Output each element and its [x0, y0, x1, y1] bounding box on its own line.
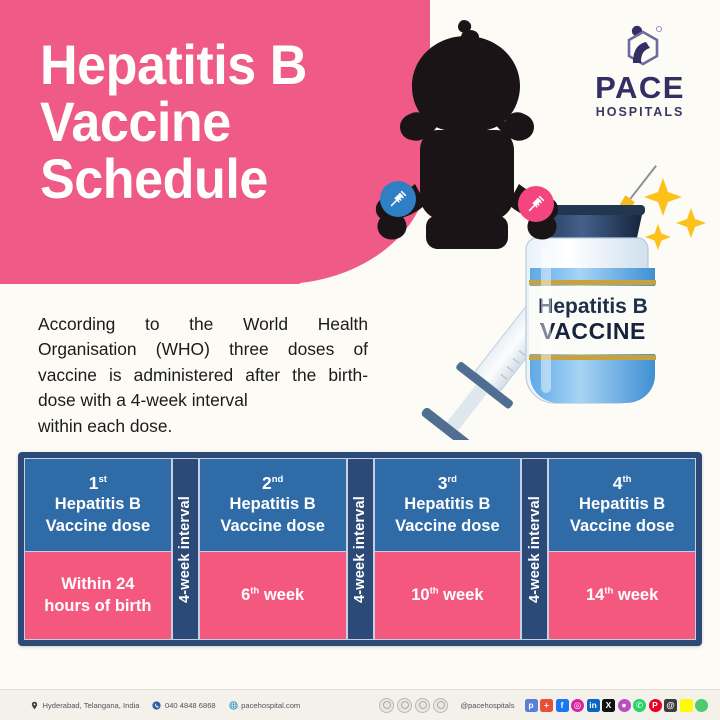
- dose-ordinal-1: 1st: [89, 473, 107, 493]
- dose-timing-row-2: 6th week: [241, 585, 304, 607]
- dose-ordinal-suffix-2: nd: [272, 475, 284, 486]
- dose-header-line1-4: Hepatitis B: [579, 494, 665, 515]
- logo-subtitle: HOSPITALS: [576, 103, 704, 122]
- dose-column-3[interactable]: 3rd Hepatitis B Vaccine dose 10th week: [374, 458, 522, 640]
- dose-ordinal-3: 3rd: [438, 473, 457, 493]
- svg-text:VACCINE: VACCINE: [540, 318, 646, 344]
- baby-silhouette-icon: [366, 18, 566, 273]
- x-twitter-icon[interactable]: X: [602, 699, 615, 712]
- dose-header-line1-1: Hepatitis B: [55, 494, 141, 515]
- title-line-1: Hepatitis B: [40, 36, 393, 93]
- dose-ordinal-number-2: 2: [262, 473, 272, 493]
- dose-ordinal-number-1: 1: [89, 473, 99, 493]
- dose-ordinal-2: 2nd: [262, 473, 283, 493]
- linkedin-icon-glyph: in: [587, 699, 600, 712]
- title-line-2: Vaccine: [40, 93, 393, 150]
- title-line-3: Schedule: [40, 150, 393, 207]
- globe-icon: [229, 701, 238, 710]
- dose-header-1: 1st Hepatitis B Vaccine dose: [25, 459, 171, 552]
- dose-timing-2: 6th week: [200, 552, 346, 639]
- snapchat-icon[interactable]: [680, 699, 693, 712]
- facebook-icon[interactable]: f: [556, 699, 569, 712]
- whatsapp-icon[interactable]: ✆: [633, 699, 646, 712]
- whatsapp-icon-glyph: ✆: [633, 699, 646, 712]
- poster-canvas: Hepatitis B Vaccine Schedule: [0, 0, 720, 720]
- sparkle-icon: [644, 178, 706, 250]
- interval-label-3: 4-week interval: [527, 496, 543, 603]
- interval-separator-1: 4-week interval: [172, 458, 199, 640]
- dose-column-4[interactable]: 4th Hepatitis B Vaccine dose 14th week: [548, 458, 696, 640]
- dose-timing-1: Within 24 hours of birth: [25, 552, 171, 639]
- dose-timing-number-3: 10: [411, 586, 429, 604]
- dose-header-line2-4: Vaccine dose: [570, 516, 675, 537]
- wechat-icon[interactable]: [695, 699, 708, 712]
- accreditation-badge-4-icon: [433, 698, 448, 713]
- logo-name: PACE: [576, 72, 704, 103]
- accreditation-badge-3-icon: [415, 698, 430, 713]
- intro-text-last: within each dose.: [38, 414, 368, 439]
- dose-ordinal-suffix-3: rd: [447, 475, 457, 486]
- dose-timing-row-4: 14th week: [586, 585, 658, 607]
- accreditation-badge-1-icon: [379, 698, 394, 713]
- dose-header-3: 3rd Hepatitis B Vaccine dose: [375, 459, 521, 552]
- footer-bar: Hyderabad, Telangana, India 040 4848 686…: [0, 689, 720, 720]
- instagram-icon[interactable]: ◎: [571, 699, 584, 712]
- dose-column-1[interactable]: 1st Hepatitis B Vaccine dose Within 24 h…: [24, 458, 172, 640]
- accreditation-badges: [379, 698, 448, 713]
- accreditation-badge-2-icon: [397, 698, 412, 713]
- footer-social-group: @pacehospitals p+f◎inX●✆P@: [379, 698, 720, 713]
- dose-header-line1-2: Hepatitis B: [230, 494, 316, 515]
- dose-timing-3: 10th week: [375, 552, 521, 639]
- footer-website-text: pacehospital.com: [241, 701, 300, 710]
- footer-social-handle: @pacehospitals: [460, 701, 514, 710]
- footer-website[interactable]: pacehospital.com: [229, 701, 301, 710]
- dose-timing-unit-2: week: [264, 586, 304, 604]
- interval-label-2: 4-week interval: [352, 496, 368, 603]
- dose-timing-row-3: 10th week: [411, 585, 483, 607]
- pace-hexagon-person-icon: [610, 24, 670, 70]
- dose-header-line2-1: Vaccine dose: [46, 516, 151, 537]
- linkedin-icon[interactable]: in: [587, 699, 600, 712]
- messenger-icon[interactable]: ●: [618, 699, 631, 712]
- dose-header-4: 4th Hepatitis B Vaccine dose: [549, 459, 695, 552]
- messenger-icon-glyph: ●: [618, 699, 631, 712]
- facebook-icon-glyph: f: [556, 699, 569, 712]
- interval-label-1: 4-week interval: [177, 496, 193, 603]
- dose-timing-4: 14th week: [549, 552, 695, 639]
- interval-separator-3: 4-week interval: [521, 458, 548, 640]
- phone-icon: [152, 701, 161, 710]
- footer-phone-text: 040 4848 6868: [165, 701, 216, 710]
- table-row-group: 1st Hepatitis B Vaccine dose Within 24 h…: [24, 458, 696, 640]
- dose-header-line2-3: Vaccine dose: [395, 516, 500, 537]
- pace-hospitals-logo: PACE HOSPITALS: [576, 24, 704, 122]
- social-icons-row: p+f◎inX●✆P@: [525, 699, 709, 712]
- practo-icon-glyph: p: [525, 699, 538, 712]
- footer-location[interactable]: Hyderabad, Telangana, India: [30, 701, 139, 710]
- dose-timing-unit-4: week: [618, 586, 658, 604]
- dose-ordinal-suffix-4: th: [623, 475, 632, 486]
- pinterest-icon[interactable]: P: [649, 699, 662, 712]
- dose-header-line2-2: Vaccine dose: [220, 516, 325, 537]
- instagram-icon-glyph: ◎: [571, 699, 584, 712]
- dose-ordinal-4: 4th: [613, 473, 632, 493]
- footer-location-text: Hyderabad, Telangana, India: [43, 701, 140, 710]
- dose-timing-suffix-2: th: [250, 585, 259, 596]
- dose-column-2[interactable]: 2nd Hepatitis B Vaccine dose 6th week: [199, 458, 347, 640]
- pinterest-icon-glyph: P: [649, 699, 662, 712]
- vaccine-schedule-table: 1st Hepatitis B Vaccine dose Within 24 h…: [18, 452, 702, 646]
- lybrate-icon-glyph: +: [540, 699, 553, 712]
- dose-timing-number-4: 14: [586, 586, 604, 604]
- x-twitter-icon-glyph: X: [602, 699, 615, 712]
- dose-timing-line1-1: Within 24: [61, 574, 134, 596]
- location-pin-icon: [30, 701, 39, 710]
- dose-timing-suffix-4: th: [604, 585, 613, 596]
- dose-header-line1-3: Hepatitis B: [404, 494, 490, 515]
- intro-paragraph: According to the World Health Organisati…: [38, 312, 368, 439]
- syringe-badge-pink-icon: [518, 186, 554, 222]
- footer-contact-group: Hyderabad, Telangana, India 040 4848 686…: [0, 701, 300, 710]
- interval-separator-2: 4-week interval: [347, 458, 374, 640]
- dose-header-2: 2nd Hepatitis B Vaccine dose: [200, 459, 346, 552]
- practo-icon[interactable]: p: [525, 699, 538, 712]
- dose-ordinal-number-4: 4: [613, 473, 623, 493]
- dose-timing-unit-3: week: [443, 586, 483, 604]
- threads-icon-glyph: @: [664, 699, 677, 712]
- dose-timing-suffix-3: th: [430, 585, 439, 596]
- dose-ordinal-suffix-1: st: [99, 475, 107, 486]
- threads-icon[interactable]: @: [664, 699, 677, 712]
- footer-phone[interactable]: 040 4848 6868: [152, 701, 215, 710]
- dose-timing-number-2: 6: [241, 586, 250, 604]
- intro-text: According to the World Health Organisati…: [38, 314, 368, 410]
- page-title: Hepatitis B Vaccine Schedule: [40, 36, 393, 207]
- dose-timing-line2-1: hours of birth: [44, 596, 151, 618]
- svg-text:Hepatitis B: Hepatitis B: [538, 295, 648, 318]
- lybrate-icon[interactable]: +: [540, 699, 553, 712]
